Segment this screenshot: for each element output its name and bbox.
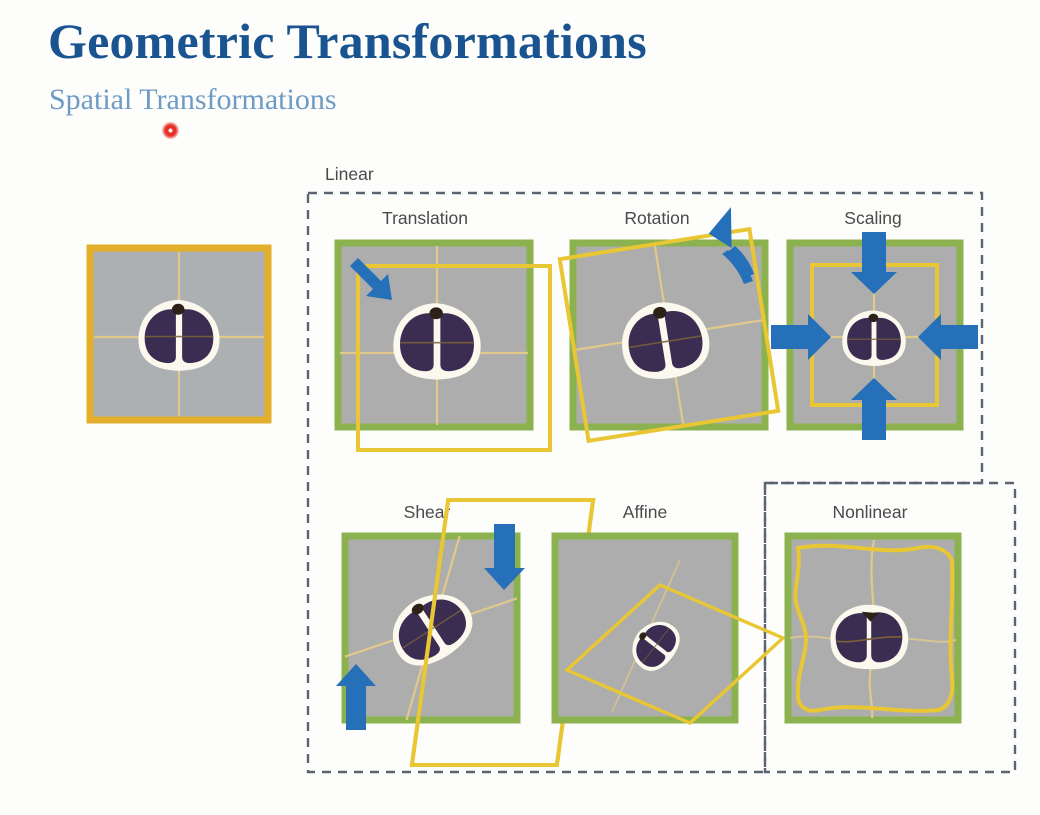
panel-translation xyxy=(338,243,550,450)
nonlinear-ct-lungs xyxy=(830,605,908,669)
transformations-figure: Linear Translation Rotation xyxy=(0,0,1040,815)
panel-label-nonlinear: Nonlinear xyxy=(833,502,908,522)
panel-label-rotation: Rotation xyxy=(624,208,689,228)
panel-affine xyxy=(555,536,783,723)
panel-rotation xyxy=(545,204,796,461)
reference-ct-panel xyxy=(90,248,268,420)
panel-scaling xyxy=(771,232,978,440)
panel-label-translation: Translation xyxy=(382,208,468,228)
group-label-linear: Linear xyxy=(325,164,374,184)
panel-nonlinear xyxy=(788,536,958,720)
panel-label-affine: Affine xyxy=(623,502,667,522)
panel-label-scaling: Scaling xyxy=(844,208,901,228)
